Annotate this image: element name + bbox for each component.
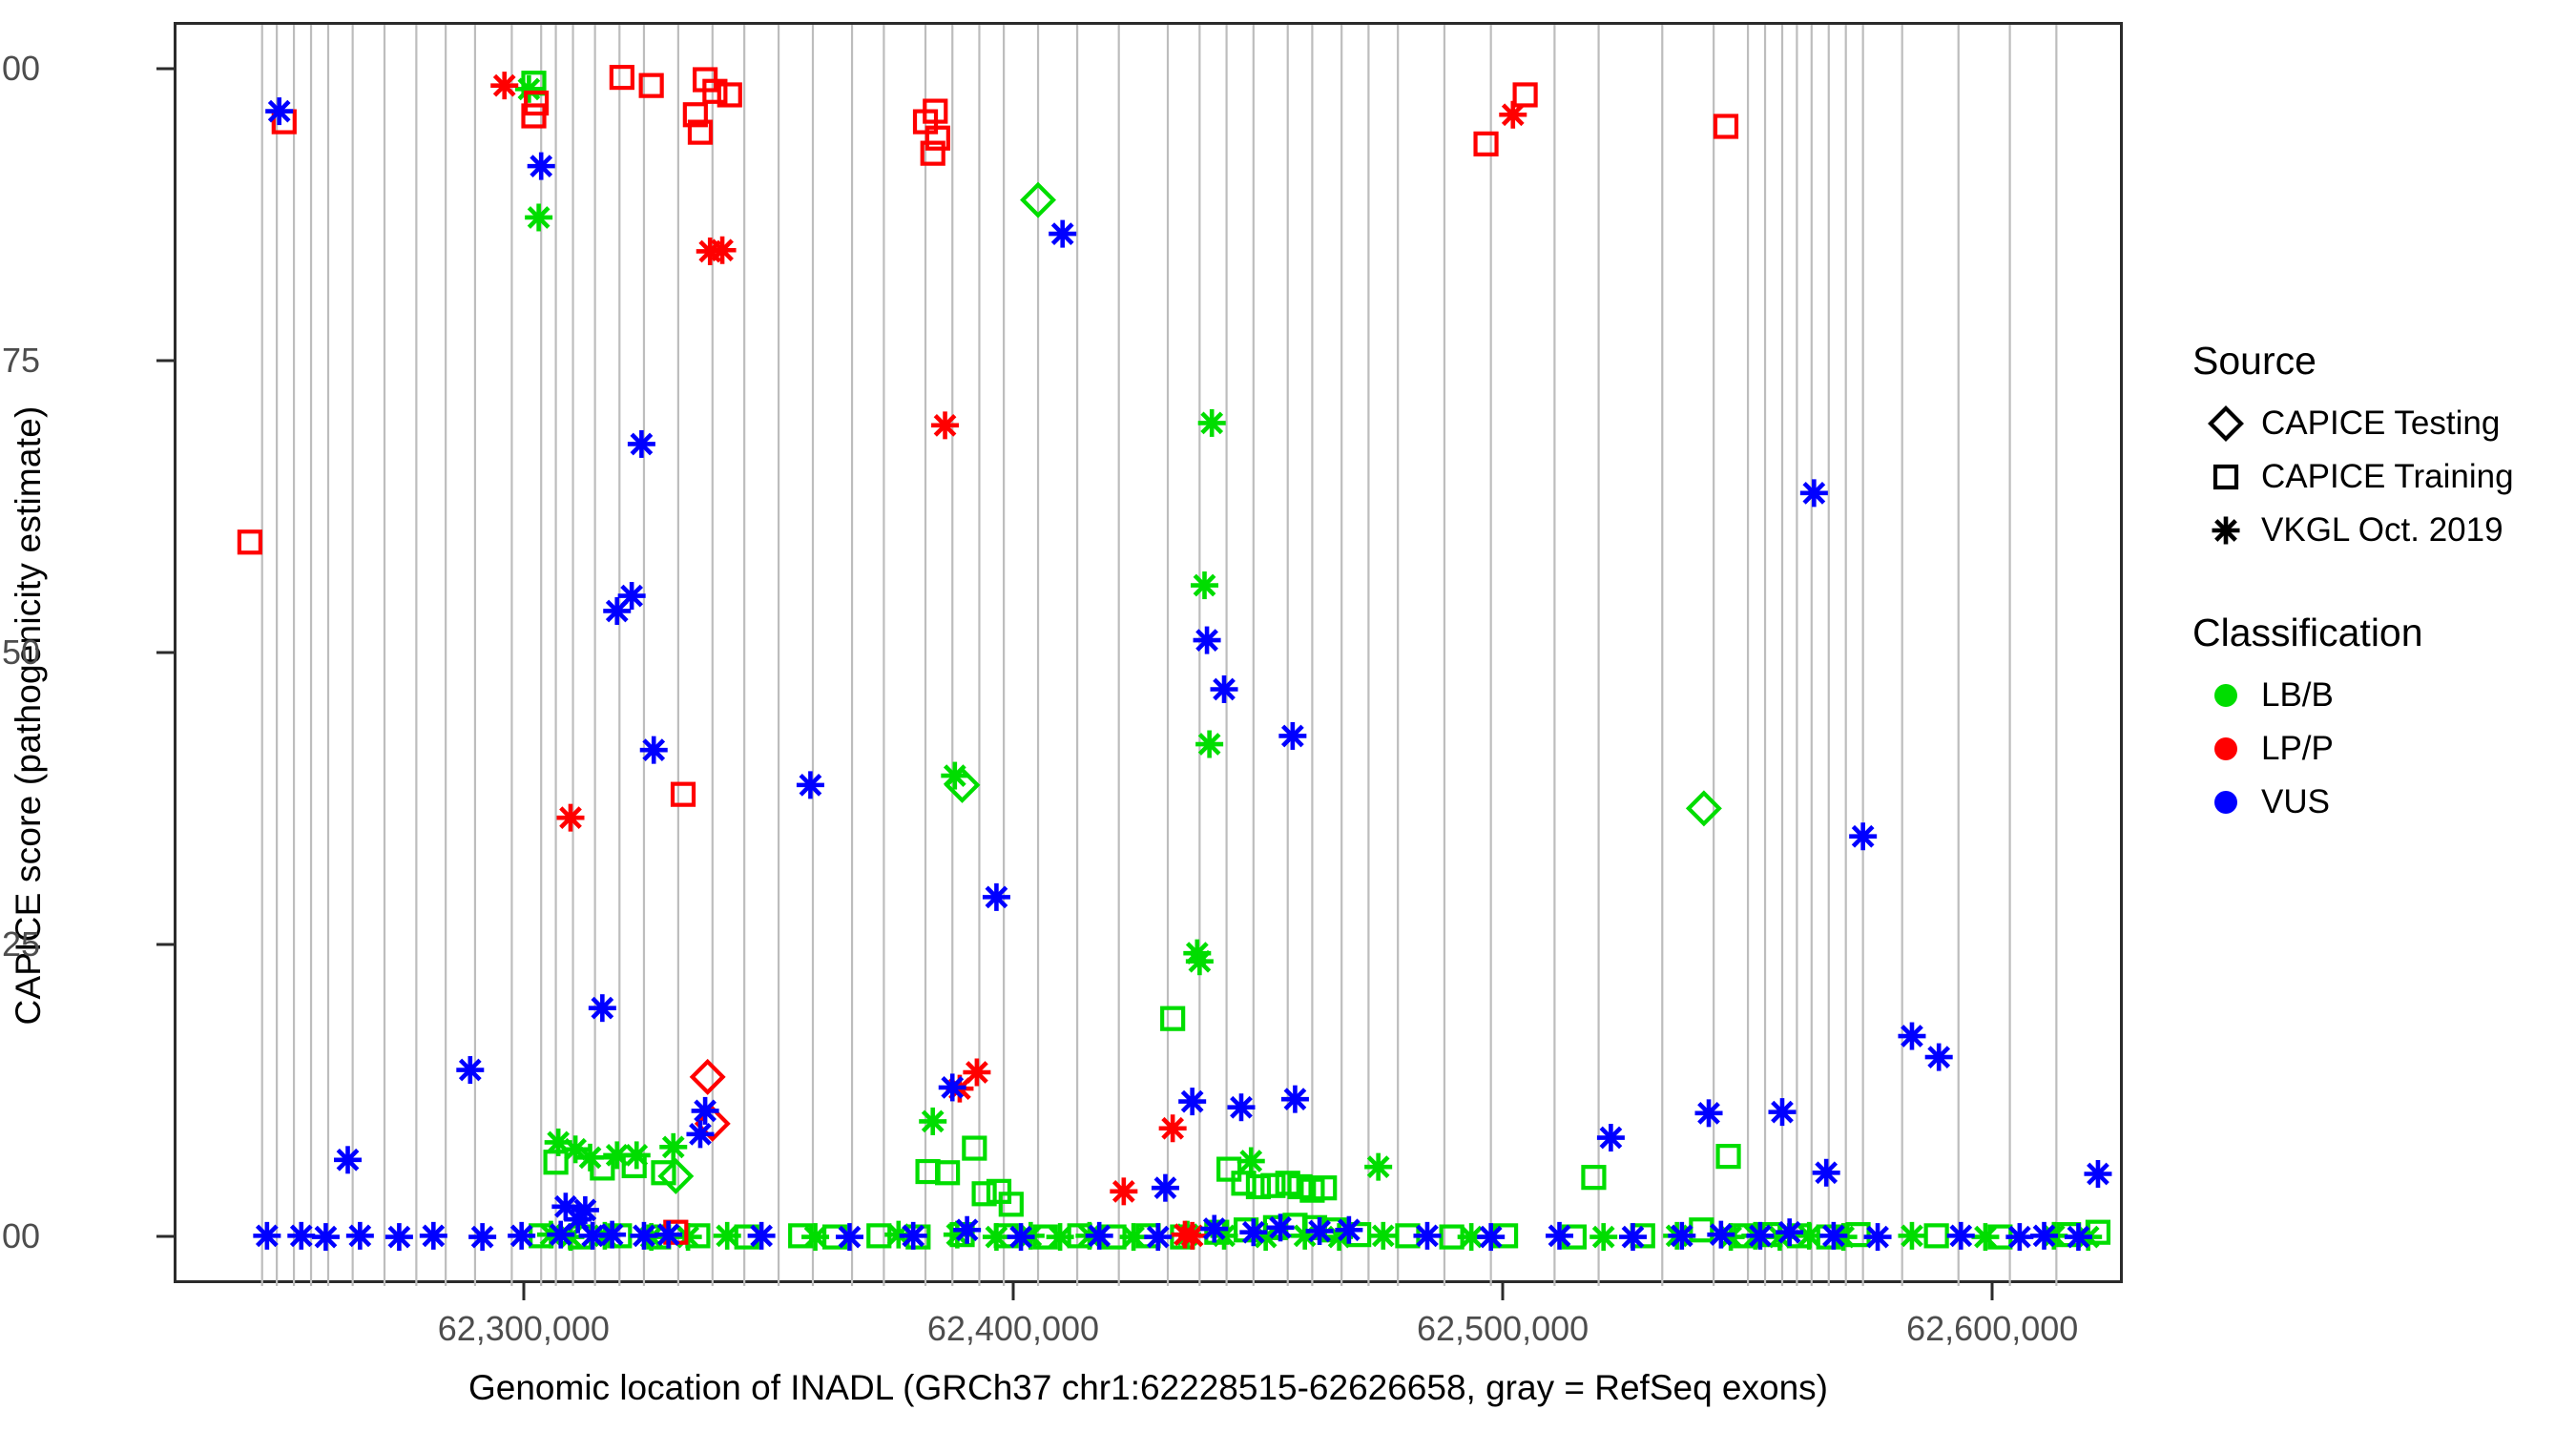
asterisk-marker	[468, 1223, 496, 1251]
series-lp-p	[490, 72, 1527, 1250]
x-tick-label: 62,600,000	[1849, 1309, 2135, 1349]
legend-item-label: LB/B	[2261, 676, 2334, 715]
asterisk-marker	[1049, 220, 1076, 248]
asterisk-marker	[1898, 1023, 1925, 1050]
asterisk-marker	[797, 771, 824, 798]
asterisk-marker	[508, 1222, 535, 1250]
asterisk-marker	[1191, 571, 1218, 599]
asterisk-marker	[1925, 1044, 1953, 1071]
asterisk-marker	[603, 597, 631, 625]
x-tick-label: 62,500,000	[1360, 1309, 1646, 1349]
asterisk-marker	[1335, 1216, 1362, 1244]
legend-container: SourceCAPICE TestingCAPICE TrainingVKGL …	[2191, 339, 2563, 829]
asterisk-marker	[556, 804, 584, 832]
asterisk-marker	[2030, 1222, 2058, 1250]
asterisk-marker	[1144, 1223, 1172, 1251]
square-marker	[2215, 467, 2236, 487]
asterisk-marker	[919, 1108, 946, 1135]
asterisk-marker	[385, 1223, 413, 1251]
asterisk-marker	[420, 1222, 447, 1250]
legend-item-label: VUS	[2261, 783, 2330, 821]
legend-spacer	[2191, 557, 2563, 611]
square-marker	[673, 784, 694, 805]
y-tick-mark	[156, 652, 174, 654]
asterisk-marker	[1186, 947, 1214, 975]
y-tick-label: 0.25	[0, 924, 40, 964]
asterisk-marker	[1746, 1222, 1774, 1250]
square-marker	[1162, 1008, 1183, 1029]
square-marker	[1515, 84, 1536, 105]
square-marker	[964, 1138, 985, 1159]
asterisk-marker	[1267, 1213, 1295, 1241]
asterisk-marker	[1364, 1153, 1392, 1181]
asterisk-marker	[1194, 627, 1221, 654]
asterisk-marker	[1813, 1159, 1840, 1187]
asterisk-marker	[1195, 731, 1223, 758]
asterisk-marker	[1947, 1222, 1975, 1250]
asterisk-marker	[1239, 1218, 1267, 1246]
legend-item[interactable]: VKGL Oct. 2019	[2191, 504, 2563, 557]
asterisk-marker	[589, 994, 616, 1022]
asterisk-marker	[525, 203, 552, 231]
asterisk-marker	[939, 1073, 966, 1101]
circle-icon	[2191, 776, 2261, 829]
diamond-icon	[2191, 397, 2261, 450]
plot-panel	[174, 22, 2123, 1283]
asterisk-marker	[1589, 1223, 1617, 1251]
asterisk-marker	[456, 1056, 484, 1084]
exon-gridlines	[262, 25, 2057, 1286]
legend-item[interactable]: LP/P	[2191, 722, 2563, 776]
asterisk-marker	[1369, 1222, 1397, 1250]
legend-item[interactable]: LB/B	[2191, 669, 2563, 722]
asterisk-marker	[1178, 1222, 1206, 1250]
asterisk-marker	[1278, 722, 1306, 750]
y-tick-mark	[156, 944, 174, 946]
asterisk-marker	[1211, 675, 1238, 703]
asterisk-marker	[1198, 409, 1226, 437]
legend-title-classification: Classification	[2192, 611, 2563, 655]
square-marker	[1583, 1167, 1604, 1188]
asterisk-marker	[598, 1221, 626, 1249]
asterisk-marker	[528, 153, 555, 180]
asterisk-marker	[1178, 1088, 1206, 1115]
series-lb-b	[660, 185, 1719, 1192]
asterisk-marker	[346, 1222, 374, 1250]
square-marker	[1715, 115, 1736, 136]
asterisk-marker	[1159, 1114, 1187, 1142]
asterisk-marker	[1668, 1222, 1695, 1250]
asterisk-marker	[334, 1146, 362, 1173]
square-icon	[2191, 450, 2261, 504]
asterisk-marker	[1597, 1124, 1625, 1151]
asterisk-marker	[748, 1222, 776, 1250]
asterisk-marker	[1864, 1223, 1892, 1251]
asterisk-marker	[953, 1216, 981, 1244]
legend-item-label: CAPICE Training	[2261, 458, 2514, 496]
capice-scatter-figure: CAPICE score (pathogenicity estimate) 0.…	[0, 0, 2576, 1431]
circle-icon	[2214, 737, 2237, 760]
asterisk-marker	[1819, 1222, 1847, 1250]
x-axis-title: Genomic location of INADL (GRCh37 chr1:6…	[174, 1364, 2123, 1412]
asterisk-marker	[1776, 1218, 1803, 1246]
asterisk-marker	[1800, 479, 1828, 507]
asterisk-marker	[1200, 1215, 1228, 1243]
legend-item-label: LP/P	[2261, 730, 2334, 768]
square-marker	[612, 67, 633, 88]
asterisk-marker	[900, 1222, 927, 1250]
square-marker	[1476, 134, 1497, 155]
x-tick-label: 62,300,000	[381, 1309, 667, 1349]
y-tick-mark	[156, 359, 174, 362]
asterisk-marker	[1227, 1093, 1255, 1121]
asterisk-marker	[1619, 1223, 1647, 1251]
asterisk-marker	[659, 1133, 687, 1161]
asterisk-marker	[640, 736, 668, 764]
series-vus	[253, 97, 2111, 1251]
asterisk-marker	[1008, 1223, 1035, 1251]
asterisk-marker	[2084, 1160, 2111, 1188]
asterisk-marker	[312, 1223, 340, 1251]
asterisk-marker	[630, 1222, 657, 1250]
circle-icon	[2191, 669, 2261, 722]
legend-title-source: Source	[2192, 339, 2563, 384]
asterisk-marker	[287, 1222, 315, 1250]
square-marker	[1218, 1159, 1239, 1180]
asterisk-marker	[1152, 1174, 1179, 1202]
asterisk-marker	[1110, 1177, 1137, 1205]
circle-icon	[2214, 791, 2237, 814]
asterisk-marker	[654, 1221, 682, 1249]
asterisk-marker	[2212, 517, 2240, 545]
legend-item-label: VKGL Oct. 2019	[2261, 511, 2503, 550]
asterisk-marker	[709, 237, 737, 264]
y-tick-label: 0.50	[0, 633, 40, 673]
asterisk-marker	[836, 1223, 863, 1251]
asterisk-marker	[983, 883, 1010, 911]
asterisk-marker	[2005, 1223, 2033, 1251]
legend-item[interactable]: CAPICE Testing	[2191, 397, 2563, 450]
asterisk-marker	[1413, 1222, 1441, 1250]
square-marker	[239, 531, 260, 552]
y-tick-label: 1.00	[0, 49, 40, 89]
diamond-marker	[693, 1062, 723, 1092]
x-tick-mark	[522, 1283, 525, 1300]
y-tick-label: 0.00	[0, 1216, 40, 1256]
asterisk-marker	[1695, 1099, 1723, 1127]
scatter-plot-canvas	[177, 25, 2126, 1286]
square-marker	[1926, 1225, 1947, 1246]
legend-item[interactable]: VUS	[2191, 776, 2563, 829]
asterisk-marker	[1086, 1222, 1113, 1250]
asterisk-marker	[253, 1222, 280, 1250]
asterisk-marker	[1898, 1222, 1925, 1250]
y-tick-mark	[156, 1235, 174, 1238]
asterisk-marker	[2065, 1223, 2092, 1251]
asterisk-marker	[515, 75, 543, 103]
asterisk-marker	[1281, 1086, 1309, 1113]
x-tick-mark	[1991, 1283, 1994, 1300]
asterisk-marker	[490, 72, 518, 99]
legend-item-label: CAPICE Testing	[2261, 404, 2500, 443]
asterisk-marker	[1849, 822, 1877, 850]
asterisk-marker	[1306, 1217, 1334, 1245]
circle-icon	[2214, 684, 2237, 707]
asterisk-marker	[692, 1097, 719, 1125]
asterisk-marker	[547, 1221, 574, 1249]
asterisk-marker	[1477, 1223, 1505, 1251]
asterisk-marker	[931, 411, 959, 439]
asterisk-marker	[628, 430, 655, 458]
square-marker	[1718, 1146, 1739, 1167]
asterisk-marker	[1768, 1098, 1796, 1126]
asterisk-marker	[1707, 1221, 1735, 1249]
legend-item[interactable]: CAPICE Training	[2191, 450, 2563, 504]
series-lb-b	[524, 73, 2109, 1247]
circle-icon	[2191, 722, 2261, 776]
asterisk-marker	[686, 1120, 714, 1148]
x-tick-mark	[1011, 1283, 1014, 1300]
x-tick-label: 62,400,000	[870, 1309, 1156, 1349]
y-tick-mark	[156, 67, 174, 70]
x-tick-mark	[1502, 1283, 1505, 1300]
diamond-marker	[2211, 408, 2241, 439]
asterisk-marker	[1546, 1222, 1573, 1250]
asterisk-marker	[265, 97, 293, 125]
data-points	[239, 67, 2112, 1251]
y-tick-label: 0.75	[0, 341, 40, 381]
asterisk-icon	[2191, 504, 2261, 557]
